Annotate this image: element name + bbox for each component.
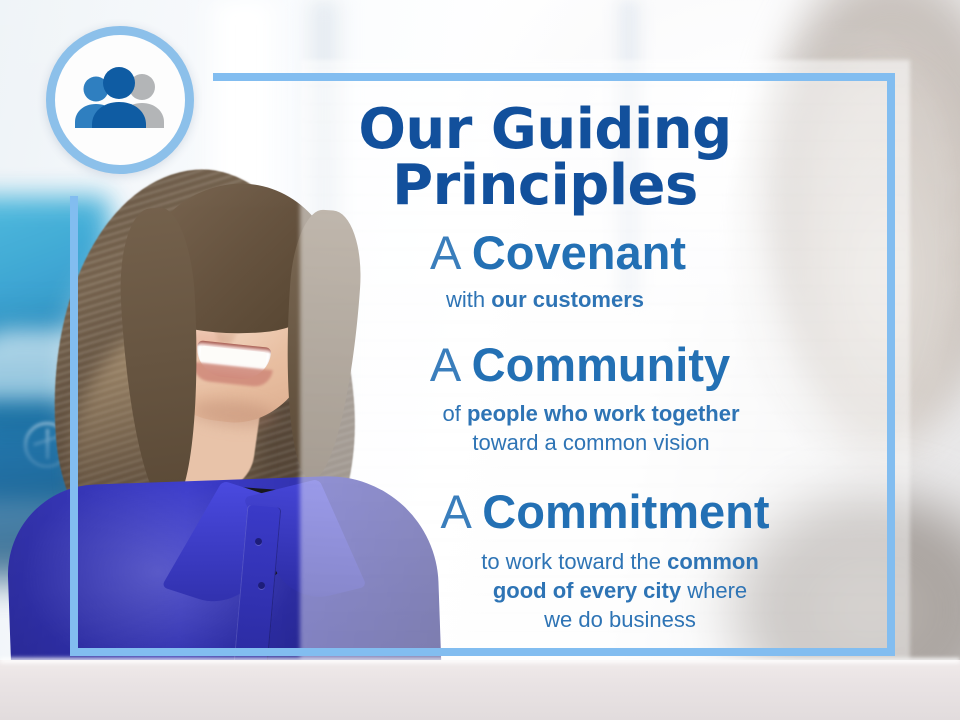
subtext-bold: common xyxy=(667,549,759,574)
principle-commitment-heading: A Commitment xyxy=(320,487,890,538)
principle-community-subtext: of people who work together toward a com… xyxy=(292,399,890,457)
principle-article: A xyxy=(430,338,459,391)
principle-community-heading: A Community xyxy=(270,340,890,391)
people-group-icon xyxy=(68,65,172,135)
principle-commitment-subtext: to work toward the common good of every … xyxy=(350,547,890,634)
subtext-line: we do business xyxy=(350,605,890,634)
principle-article: A xyxy=(440,485,469,538)
frame-border-bottom xyxy=(70,648,895,656)
subtext-plain: of xyxy=(442,401,466,426)
principle-keyword: Covenant xyxy=(472,226,686,279)
subtext-bold: good of every city xyxy=(493,578,681,603)
subtext-line: good of every city where xyxy=(350,576,890,605)
principle-covenant-heading: A Covenant xyxy=(226,228,890,279)
people-group-badge xyxy=(46,26,194,174)
subtext-line: of people who work together xyxy=(292,399,890,428)
subtext-plain: with xyxy=(446,287,491,312)
subtext-plain: to work toward the xyxy=(481,549,667,574)
subtext-plain: where xyxy=(681,578,747,603)
principle-commitment: A Commitment to work toward the common g… xyxy=(200,487,890,635)
subtext-line: toward a common vision xyxy=(292,428,890,457)
promo-graphic: FLOW FLOW xyxy=(0,0,960,720)
subtext-line: to work toward the common xyxy=(350,547,890,576)
subtext-bold: people who work together xyxy=(467,401,740,426)
text-content: Our Guiding Principles A Covenant with o… xyxy=(200,84,890,634)
page-title: Our Guiding Principles xyxy=(200,102,890,214)
subtext-bold: our customers xyxy=(491,287,644,312)
frame-border-top xyxy=(213,73,895,81)
principle-covenant: A Covenant with our customers xyxy=(200,228,890,314)
frame-border-left xyxy=(70,196,78,656)
principle-community: A Community of people who work together … xyxy=(200,340,890,457)
principle-keyword: Community xyxy=(472,338,731,391)
principle-keyword: Commitment xyxy=(482,485,769,538)
principle-article: A xyxy=(430,226,459,279)
principle-covenant-subtext: with our customers xyxy=(200,285,890,314)
